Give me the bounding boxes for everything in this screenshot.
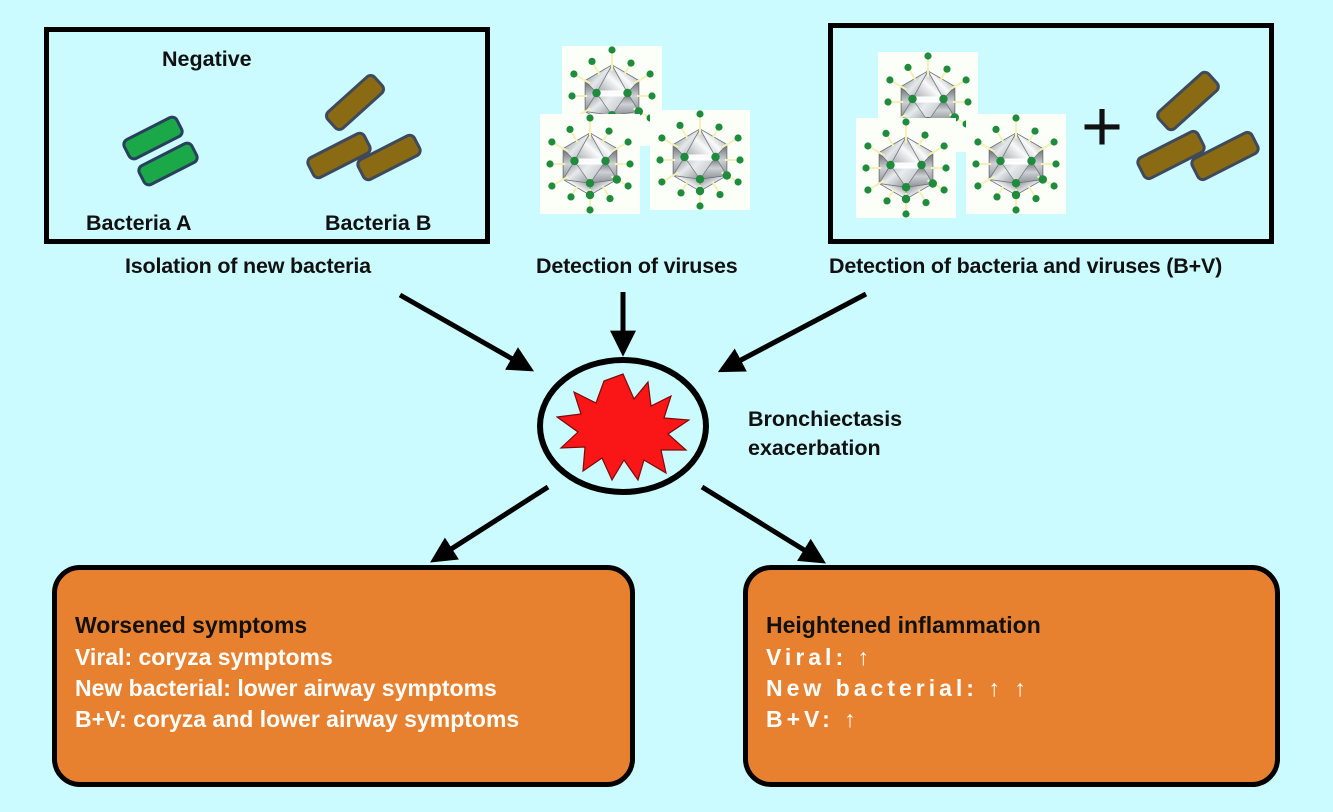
outcome-box-worsened-symptoms: Worsened symptoms Viral: coryza symptoms… [52,565,635,787]
outcome-title-inflammation: Heightened inflammation [766,612,1265,639]
figure-canvas: Negative Bacteria A Bacteria B Isolation… [0,0,1333,812]
caption-detection-of-bacteria-and-viruses: Detection of bacteria and viruses (B+V) [829,254,1222,279]
burst-shape [557,374,689,480]
label-bacteria-b: Bacteria B [325,211,431,236]
exacerbation-label: Bronchiectasis exacerbation [748,405,978,463]
virus-particle-icon [644,104,756,216]
exacerbation-label-line-2: exacerbation [748,434,978,463]
label-negative: Negative [162,47,252,72]
arrow-isolation-to-exacerbation [400,295,530,369]
arrow-exacerbation-to-inflammation [702,487,822,561]
virus-particle-icon [850,112,962,224]
virus-particle-icon [534,108,646,220]
outcome-content: Worsened symptoms Viral: coryza symptoms… [75,612,620,735]
explosion-burst-icon [556,372,690,482]
outcome-line-inflammation-new-bacterial: New bacterial: ↑ ↑ [766,673,1265,704]
exacerbation-label-line-1: Bronchiectasis [748,405,978,434]
plus-sign-icon: + [1075,100,1129,158]
caption-isolation-of-new-bacteria: Isolation of new bacteria [125,254,371,279]
arrow-exacerbation-to-symptoms [434,487,548,560]
outcome-line-inflammation-bv: B+V: ↑ [766,704,1265,735]
outcome-title-symptoms: Worsened symptoms [75,612,620,639]
virus-particle-icon [960,108,1072,220]
arrow-bv-to-exacerbation [722,294,866,370]
outcome-content: Heightened inflammation Viral: ↑ New bac… [766,612,1265,735]
outcome-line-symptoms-viral: Viral: coryza symptoms [75,642,620,673]
caption-detection-of-viruses: Detection of viruses [536,254,738,279]
outcome-line-symptoms-bv: B+V: coryza and lower airway symptoms [75,704,620,735]
outcome-box-heightened-inflammation: Heightened inflammation Viral: ↑ New bac… [743,565,1280,787]
outcome-line-inflammation-viral: Viral: ↑ [766,642,1265,673]
outcome-line-symptoms-new-bacterial: New bacterial: lower airway symptoms [75,673,620,704]
label-bacteria-a: Bacteria A [86,211,192,236]
